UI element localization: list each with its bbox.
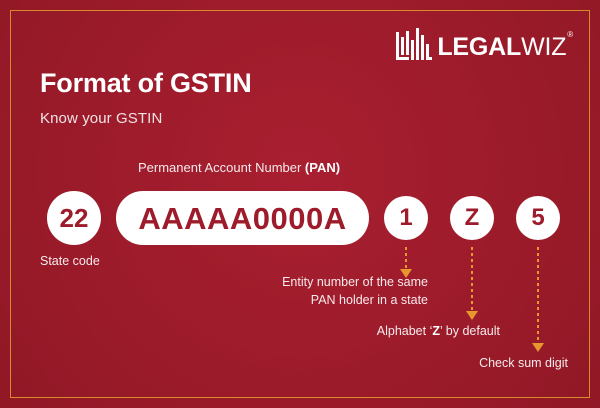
registered-trademark-icon: ®: [567, 30, 573, 39]
logo-wordmark: LEGALWIZ®: [437, 35, 572, 60]
gstin-segment-entity-number: 1: [384, 196, 428, 240]
gstin-segment-check-sum: 5: [516, 196, 560, 240]
pan-caption-abbreviation: (PAN): [305, 160, 340, 175]
legalwiz-bars-logo-icon: [396, 28, 432, 60]
page-subtitle: Know your GSTIN: [40, 110, 162, 127]
arrow-stem: [405, 247, 407, 269]
logo-word-legal: LEGAL: [437, 33, 521, 61]
legalwiz-logo: LEGALWIZ®: [396, 26, 572, 60]
label-alphabet-z-letter: Z: [432, 324, 440, 338]
label-entity-number: Entity number of the same PAN holder in …: [282, 273, 428, 309]
label-entity-number-line1: Entity number of the same: [282, 273, 428, 291]
gstin-format-row: 22 AAAAA0000A 1 Z 5: [0, 191, 600, 245]
label-entity-number-line2: PAN holder in a state: [282, 291, 428, 309]
pan-caption-text: Permanent Account Number: [138, 160, 305, 175]
label-alphabet-z: Alphabet ‘Z’ by default: [377, 322, 500, 340]
page-title: Format of GSTIN: [40, 68, 252, 99]
label-alphabet-z-suffix: ’ by default: [440, 324, 500, 338]
arrow-down-alphabet-z: [466, 247, 478, 321]
gstin-segment-state-code: 22: [47, 191, 101, 245]
gstin-segment-pan: AAAAA0000A: [116, 191, 369, 245]
logo-word-wiz: WIZ: [521, 33, 566, 61]
arrow-stem: [471, 247, 473, 311]
gstin-segment-alphabet-z: Z: [450, 196, 494, 240]
pan-caption: Permanent Account Number (PAN): [138, 160, 340, 175]
arrow-head-icon: [532, 343, 544, 352]
arrow-stem: [537, 247, 539, 343]
label-alphabet-z-prefix: Alphabet ‘: [377, 324, 433, 338]
arrow-head-icon: [466, 311, 478, 320]
poster-canvas: LEGALWIZ® Format of GSTIN Know your GSTI…: [0, 0, 600, 408]
label-state-code: State code: [40, 254, 100, 268]
arrow-down-check-sum: [532, 247, 544, 353]
label-check-sum: Check sum digit: [479, 354, 568, 372]
